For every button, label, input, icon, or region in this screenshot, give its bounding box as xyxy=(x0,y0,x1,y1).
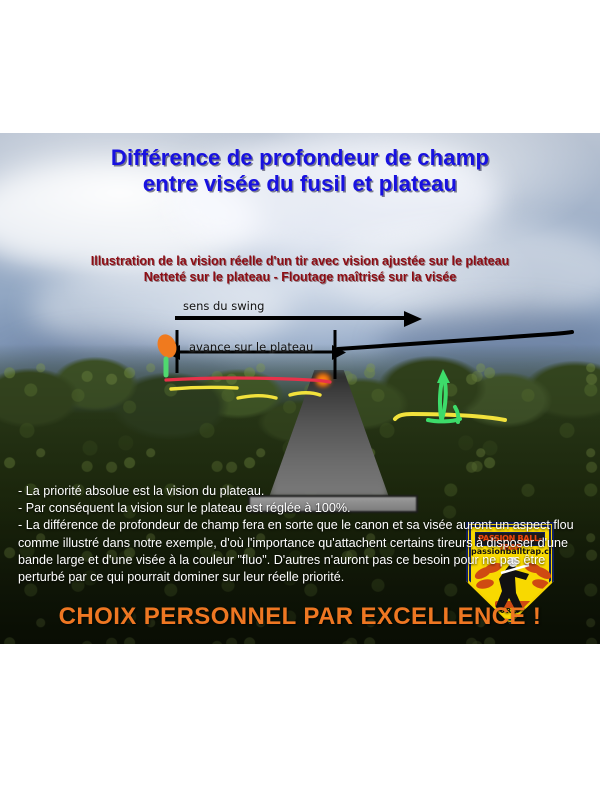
lead-label: avance sur le plateau xyxy=(189,340,313,354)
front-bead-sight-icon xyxy=(315,373,331,387)
poster-subtitle: Illustration de la vision réelle d'un ti… xyxy=(0,253,600,285)
body-copy: - La priorité absolue est la vision du p… xyxy=(18,483,584,586)
photo-panel: Différence de profondeur de champ entre … xyxy=(0,133,600,644)
body-bullet-1: - La priorité absolue est la vision du p… xyxy=(18,483,584,500)
swing-label: sens du swing xyxy=(183,299,264,313)
poster-title: Différence de profondeur de champ entre … xyxy=(0,145,600,197)
poster-subtitle-line2: Netteté sur le plateau - Floutage maîtri… xyxy=(0,269,600,285)
poster-title-line1: Différence de profondeur de champ xyxy=(0,145,600,171)
tagline: CHOIX PERSONNEL PAR EXCELLENCE ! xyxy=(0,603,600,631)
poster-canvas: Différence de profondeur de champ entre … xyxy=(0,0,600,800)
poster-subtitle-line1: Illustration de la vision réelle d'un ti… xyxy=(0,253,600,269)
body-bullet-3: - La différence de profondeur de champ f… xyxy=(18,517,584,586)
poster-title-line2: entre visée du fusil et plateau xyxy=(0,171,600,197)
body-bullet-2: - Par conséquent la vision sur le platea… xyxy=(18,500,584,517)
